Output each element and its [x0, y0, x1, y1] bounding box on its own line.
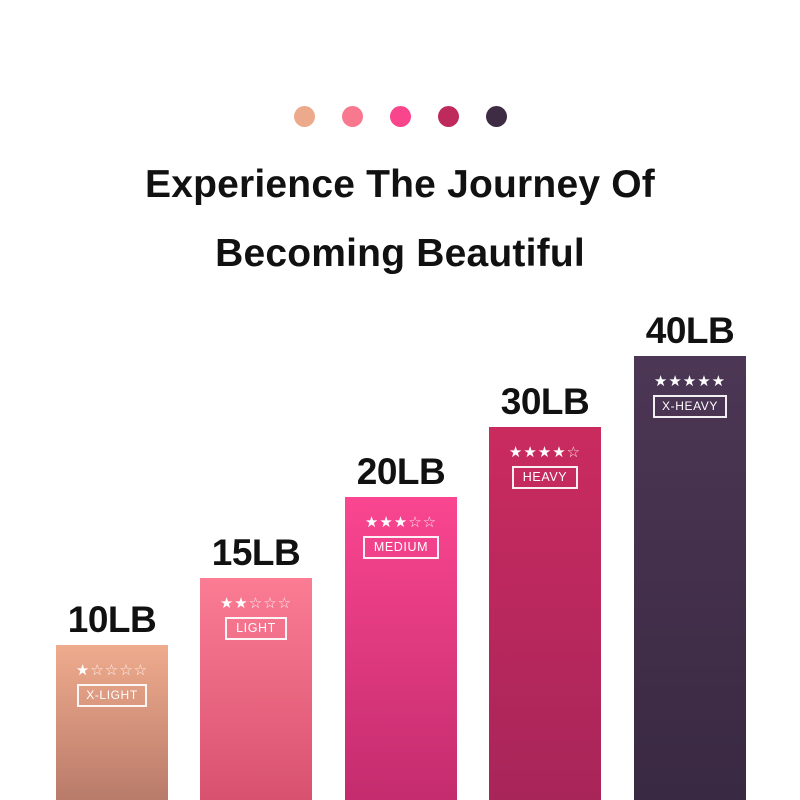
bar-badge: ★☆☆☆☆X-LIGHT: [56, 663, 168, 707]
resistance-level-label: X-LIGHT: [77, 684, 147, 707]
resistance-level-label: X-HEAVY: [653, 395, 727, 418]
bar-badge: ★★★★★X-HEAVY: [634, 374, 746, 418]
bar-15lb[interactable]: 15LB★★☆☆☆LIGHT: [200, 578, 312, 800]
bar-40lb[interactable]: 40LB★★★★★X-HEAVY: [634, 356, 746, 800]
bar-value-label: 15LB: [212, 532, 300, 574]
bar-value-label: 10LB: [68, 599, 156, 641]
bar-fill: ★★★★★X-HEAVY: [634, 356, 746, 800]
resistance-level-label: MEDIUM: [363, 536, 439, 559]
bar-fill: ★☆☆☆☆X-LIGHT: [56, 645, 168, 800]
bar-badge: ★★☆☆☆LIGHT: [200, 596, 312, 640]
star-rating-icon: ★★★★☆: [509, 445, 581, 460]
star-rating-icon: ★★★☆☆: [365, 515, 437, 530]
star-rating-icon: ★★☆☆☆: [220, 596, 292, 611]
bar-value-label: 30LB: [501, 381, 589, 423]
bar-value-label: 20LB: [357, 451, 445, 493]
resistance-band-bar-chart: 10LB★☆☆☆☆X-LIGHT15LB★★☆☆☆LIGHT20LB★★★☆☆M…: [0, 0, 800, 800]
resistance-level-label: HEAVY: [512, 466, 578, 489]
bar-fill: ★★★★☆HEAVY: [489, 427, 601, 800]
bar-value-label: 40LB: [646, 310, 734, 352]
bar-30lb[interactable]: 30LB★★★★☆HEAVY: [489, 427, 601, 800]
resistance-level-label: LIGHT: [225, 617, 287, 640]
bar-fill: ★★☆☆☆LIGHT: [200, 578, 312, 800]
star-rating-icon: ★★★★★: [654, 374, 726, 389]
star-rating-icon: ★☆☆☆☆: [76, 663, 148, 678]
bar-badge: ★★★☆☆MEDIUM: [345, 515, 457, 559]
bar-badge: ★★★★☆HEAVY: [489, 445, 601, 489]
bar-20lb[interactable]: 20LB★★★☆☆MEDIUM: [345, 497, 457, 800]
bar-10lb[interactable]: 10LB★☆☆☆☆X-LIGHT: [56, 645, 168, 800]
bar-fill: ★★★☆☆MEDIUM: [345, 497, 457, 800]
